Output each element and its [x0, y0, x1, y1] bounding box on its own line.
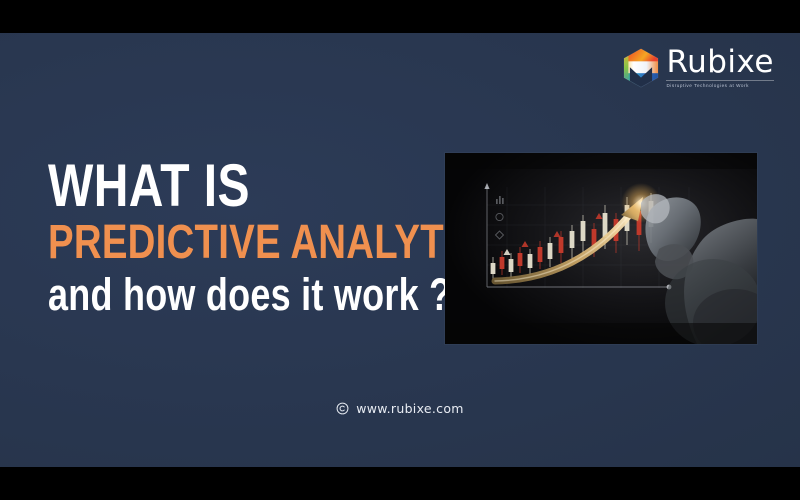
- slide-canvas: Rubixe Disruptive Technologies at Work W…: [0, 33, 800, 467]
- brand-tagline: Disruptive Technologies at Work: [666, 84, 749, 89]
- brand-logo[interactable]: Rubixe Disruptive Technologies at Work: [622, 47, 774, 89]
- headline-line-3: and how does it work ?: [48, 269, 368, 321]
- website-url[interactable]: www.rubixe.com: [356, 401, 464, 416]
- rubixe-hexagon-logo-icon: [622, 48, 660, 88]
- brand-name: Rubixe: [666, 47, 774, 78]
- hero-image: [445, 153, 757, 344]
- letterbox-bar-top: [0, 0, 800, 33]
- headline-block: WHAT IS PREDICTIVE ANALYTICS and how doe…: [48, 155, 448, 321]
- brand-underline: [666, 80, 774, 81]
- hero-image-graphic: [445, 153, 757, 344]
- letterbox-bar-bottom: [0, 467, 800, 500]
- brand-wordmark-block: Rubixe Disruptive Technologies at Work: [666, 47, 774, 89]
- copyright-icon: [336, 402, 349, 415]
- headline-line-1: WHAT IS: [48, 155, 368, 217]
- headline-line-2-accent: PREDICTIVE ANALYTICS: [48, 217, 368, 269]
- footer-website[interactable]: www.rubixe.com: [0, 401, 800, 416]
- slide-screenshot: Rubixe Disruptive Technologies at Work W…: [0, 0, 800, 500]
